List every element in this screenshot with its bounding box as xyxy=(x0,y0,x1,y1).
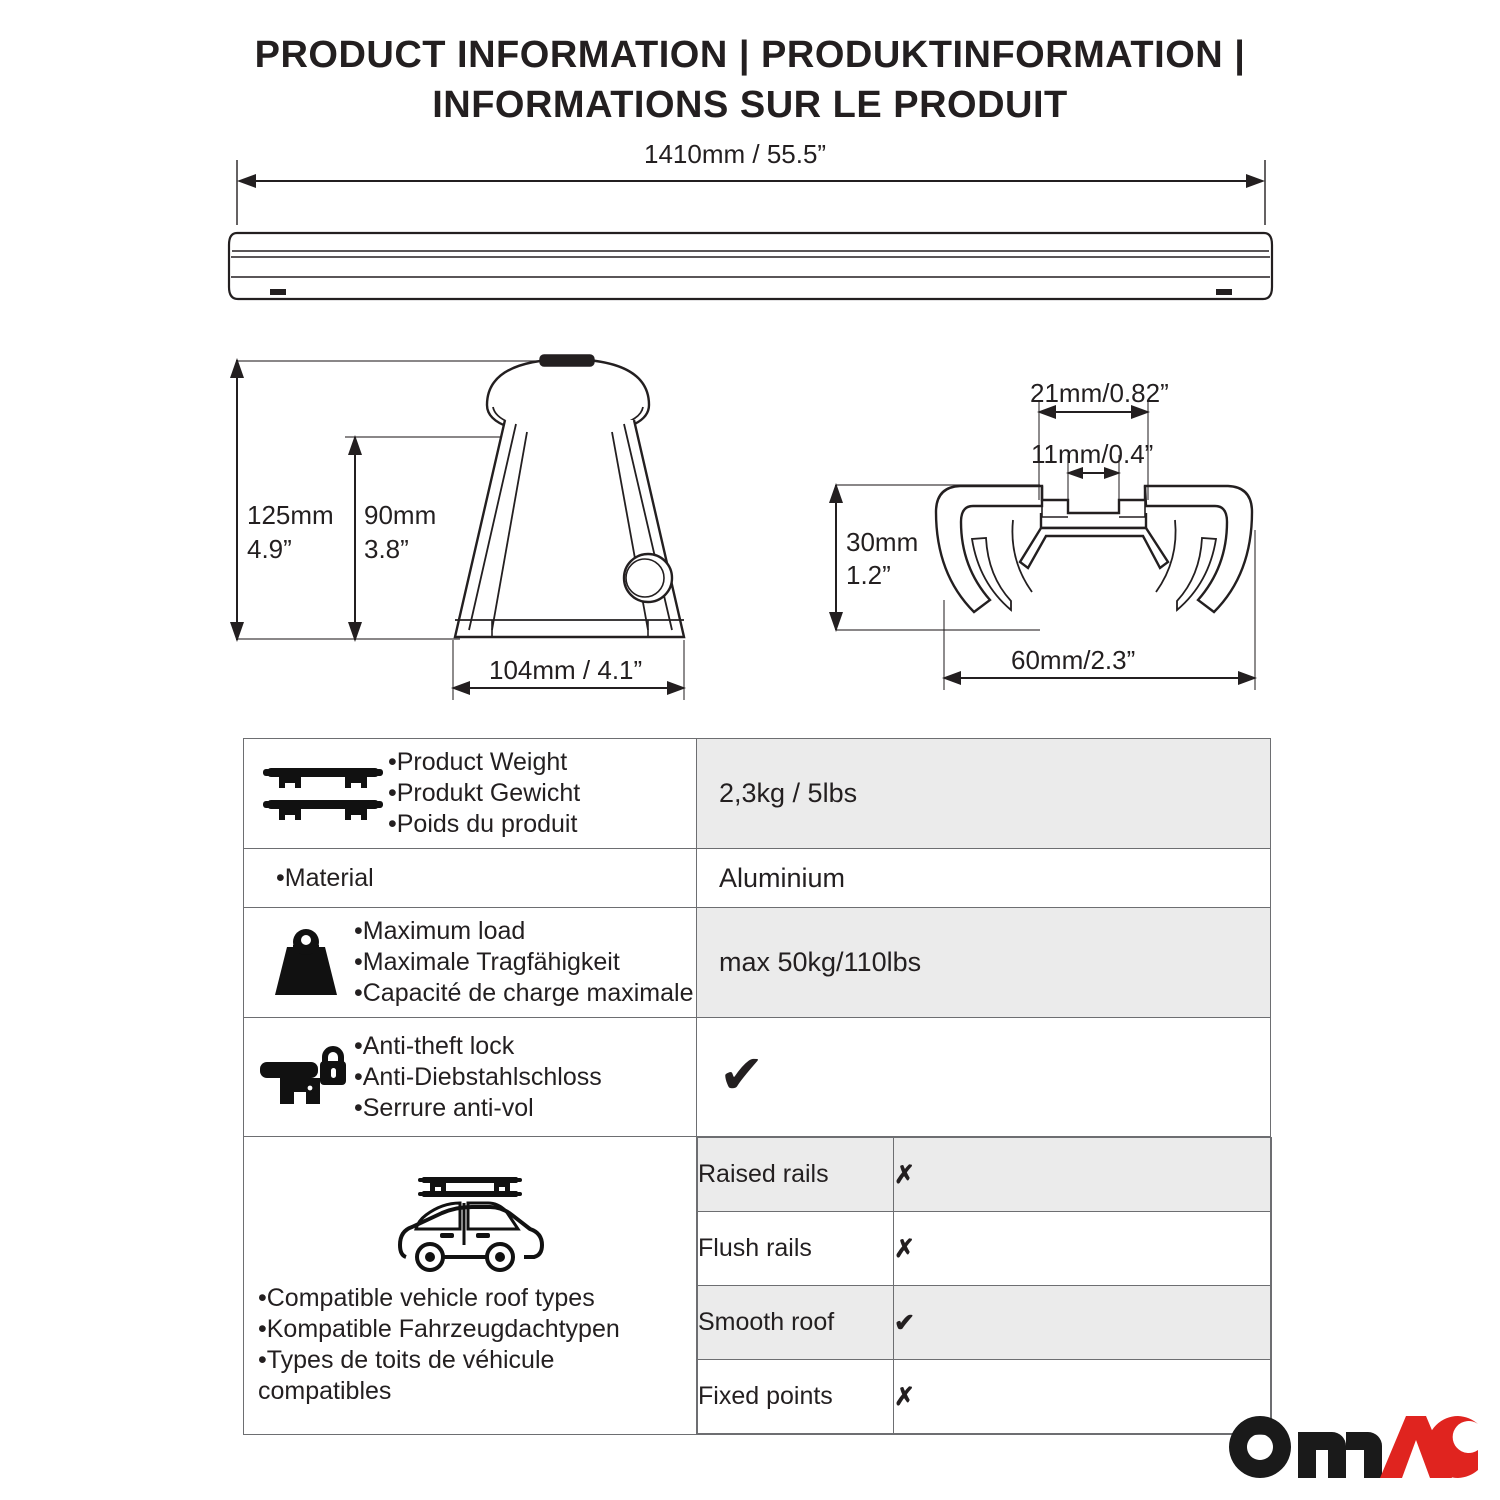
roof-bars-icon xyxy=(258,762,388,826)
logo-letter-m xyxy=(1298,1432,1382,1478)
spec-labels-maxload: •Maximum load •Maximale Tragfähigkeit •C… xyxy=(354,916,693,1009)
label-line: •Anti-Diebstahlschloss xyxy=(354,1062,690,1093)
roof-type-row-flush-rails: Flush rails ✗ xyxy=(698,1212,1272,1286)
foot-height-total-label-line1: 125mm xyxy=(247,500,334,531)
foot-width-label: 104mm / 4.1” xyxy=(489,655,642,686)
label-line: •Serrure anti-vol xyxy=(354,1093,690,1124)
roof-type-cross-icon: ✗ xyxy=(894,1360,1272,1434)
spec-value-cell-lock: ✔ xyxy=(697,1018,1271,1137)
profile-slot-outer-label: 21mm/0.82” xyxy=(1030,378,1169,409)
roof-rack-foot-front-view-icon xyxy=(455,355,684,637)
bar-length-label: 1410mm / 55.5” xyxy=(644,139,826,170)
label-line: •Product Weight xyxy=(388,747,690,778)
roof-type-matrix-cell: Raised rails ✗ Flush rails ✗ Smooth roof… xyxy=(697,1137,1271,1435)
table-row: •Anti-theft lock •Anti-Diebstahlschloss … xyxy=(244,1018,1271,1137)
spec-value-material: Aluminium xyxy=(697,853,1270,904)
foot-height-inner-label-line1: 90mm xyxy=(364,500,436,531)
profile-height-label-line1: 30mm xyxy=(846,527,918,558)
spec-label-cell-rooftypes: •Compatible vehicle roof types •Kompatib… xyxy=(244,1137,697,1435)
lock-icon xyxy=(258,1040,354,1114)
spec-value-cell-material: Aluminium xyxy=(697,849,1271,908)
foot-height-inner-label-line2: 3.8” xyxy=(364,534,409,565)
label-line: •Types de toits de véhicule compatibles xyxy=(258,1345,686,1407)
profile-slot-inner-label: 11mm/0.4” xyxy=(1031,439,1153,470)
lock-supported-check-icon: ✔ xyxy=(697,1042,1270,1112)
table-row: •Compatible vehicle roof types •Kompatib… xyxy=(244,1137,1271,1435)
spec-labels-weight: •Product Weight •Produkt Gewicht •Poids … xyxy=(388,747,690,840)
foot-height-total-label-line2: 4.9” xyxy=(247,534,292,565)
label-line: •Kompatible Fahrzeugdachtypen xyxy=(258,1314,686,1345)
label-line: •Produkt Gewicht xyxy=(388,778,690,809)
logo-letter-o xyxy=(1229,1416,1291,1478)
spec-label-cell-material: •Material xyxy=(244,849,697,908)
roof-type-name: Fixed points xyxy=(698,1360,894,1434)
weight-icon xyxy=(258,927,354,999)
spec-label-cell-lock: •Anti-theft lock •Anti-Diebstahlschloss … xyxy=(244,1018,697,1137)
spec-label-cell-weight: •Product Weight •Produkt Gewicht •Poids … xyxy=(244,739,697,849)
spec-value-maxload: max 50kg/110lbs xyxy=(697,937,1270,988)
roof-type-check-icon: ✔ xyxy=(894,1286,1272,1360)
spec-value-cell-maxload: max 50kg/110lbs xyxy=(697,908,1271,1018)
spec-labels-lock: •Anti-theft lock •Anti-Diebstahlschloss … xyxy=(354,1031,690,1124)
label-line: •Maximum load xyxy=(354,916,693,947)
label-line: •Maximale Tragfähigkeit xyxy=(354,947,693,978)
omac-logo xyxy=(1228,1414,1478,1480)
page-title-line-2: INFORMATIONS SUR LE PRODUIT xyxy=(0,80,1500,130)
spec-labels-material: •Material xyxy=(276,863,690,894)
spec-labels-rooftypes: •Compatible vehicle roof types •Kompatib… xyxy=(244,1283,696,1407)
spec-value-cell-weight: 2,3kg / 5lbs xyxy=(697,739,1271,849)
roof-type-row-raised-rails: Raised rails ✗ xyxy=(698,1138,1272,1212)
label-line: •Anti-theft lock xyxy=(354,1031,690,1062)
crossbar-profile-cross-section-icon xyxy=(936,486,1252,612)
page-title-line-1: PRODUCT INFORMATION | PRODUKTINFORMATION… xyxy=(0,30,1500,80)
label-line: •Material xyxy=(276,863,690,894)
spec-value-weight: 2,3kg / 5lbs xyxy=(697,768,1270,819)
roof-type-row-fixed-points: Fixed points ✗ xyxy=(698,1360,1272,1434)
roof-type-name: Smooth roof xyxy=(698,1286,894,1360)
car-with-roof-rack-icon xyxy=(244,1165,696,1283)
label-line: •Poids du produit xyxy=(388,809,690,840)
roof-type-row-smooth-roof: Smooth roof ✔ xyxy=(698,1286,1272,1360)
roof-type-cross-icon: ✗ xyxy=(894,1138,1272,1212)
table-row: •Product Weight •Produkt Gewicht •Poids … xyxy=(244,739,1271,849)
roof-bar-side-view-icon xyxy=(229,233,1272,299)
roof-type-matrix: Raised rails ✗ Flush rails ✗ Smooth roof… xyxy=(697,1137,1272,1434)
spec-label-cell-maxload: •Maximum load •Maximale Tragfähigkeit •C… xyxy=(244,908,697,1018)
roof-type-name: Raised rails xyxy=(698,1138,894,1212)
table-row: •Maximum load •Maximale Tragfähigkeit •C… xyxy=(244,908,1271,1018)
roof-type-name: Flush rails xyxy=(698,1212,894,1286)
label-line: •Capacité de charge maximale xyxy=(354,978,693,1009)
profile-height-label-line2: 1.2” xyxy=(846,560,891,591)
roof-type-cross-icon: ✗ xyxy=(894,1212,1272,1286)
label-line: •Compatible vehicle roof types xyxy=(258,1283,686,1314)
product-spec-table: •Product Weight •Produkt Gewicht •Poids … xyxy=(243,738,1271,1435)
page-title: PRODUCT INFORMATION | PRODUKTINFORMATION… xyxy=(0,30,1500,130)
profile-width-label: 60mm/2.3” xyxy=(1011,645,1135,676)
table-row: •Material Aluminium xyxy=(244,849,1271,908)
